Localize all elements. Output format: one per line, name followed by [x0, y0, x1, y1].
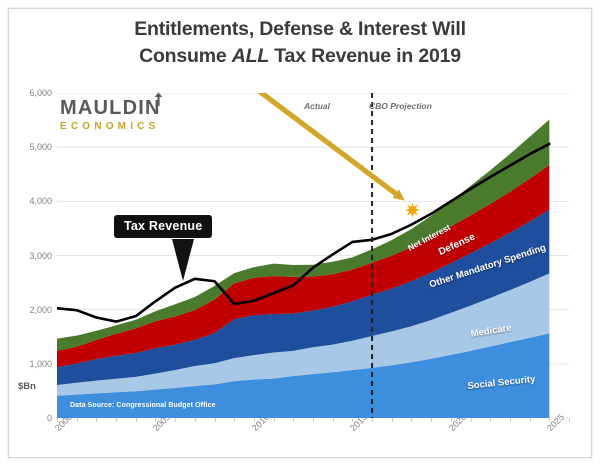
x-axis-tick-mark: [471, 418, 472, 422]
x-axis-tick-mark: [57, 418, 58, 422]
y-axis-unit-label: $Bn: [18, 381, 36, 392]
plot-area: [57, 93, 569, 418]
x-axis-tick-mark: [77, 418, 78, 422]
x-axis-tick-mark: [274, 418, 275, 422]
y-axis-tick-label: 1,000: [4, 359, 52, 369]
x-axis-tick-mark: [313, 418, 314, 422]
cbo-projection-label: CBO Projection: [369, 101, 432, 111]
chart-page: Entitlements, Defense & Interest Will Co…: [0, 0, 600, 466]
tax-revenue-callout: Tax Revenue: [114, 215, 212, 238]
x-axis: 200020052010201520202025: [0, 418, 600, 466]
x-axis-tick-mark: [215, 418, 216, 422]
data-source-note: Data Source: Congressional Budget Office: [70, 402, 216, 409]
area-chart-svg: [57, 93, 569, 418]
x-axis-tick-mark: [293, 418, 294, 422]
title-line-1: Entitlements, Defense & Interest Will: [60, 16, 540, 43]
x-axis-tick-mark: [510, 418, 511, 422]
actual-period-label: Actual: [304, 101, 330, 111]
x-axis-tick-mark: [411, 418, 412, 422]
x-axis-tick-mark: [549, 418, 550, 422]
x-axis-tick-mark: [372, 418, 373, 422]
title-line-2: Consume ALL Tax Revenue in 2019: [60, 43, 540, 70]
starburst-marker-icon: [405, 203, 420, 218]
x-axis-tick-mark: [254, 418, 255, 422]
page-title: Entitlements, Defense & Interest Will Co…: [60, 16, 540, 70]
title-emphasis: ALL: [232, 45, 269, 67]
tax-revenue-callout-pointer: [172, 239, 194, 281]
x-axis-tick-mark: [352, 418, 353, 422]
x-axis-tick-mark: [431, 418, 432, 422]
x-axis-tick-mark: [116, 418, 117, 422]
x-axis-tick-mark: [569, 418, 570, 422]
x-axis-tick-mark: [333, 418, 334, 422]
x-axis-tick-mark: [136, 418, 137, 422]
x-axis-tick-mark: [451, 418, 452, 422]
title-line-2-b: Tax Revenue in 2019: [269, 45, 461, 67]
y-axis-tick-label: 2,000: [4, 305, 52, 315]
x-axis-tick-mark: [530, 418, 531, 422]
title-line-2-a: Consume: [139, 45, 232, 67]
y-axis-tick-label: 6,000: [4, 88, 52, 98]
y-axis-tick-label: 4,000: [4, 196, 52, 206]
y-axis: 01,0002,0003,0004,0005,0006,000: [0, 0, 52, 466]
x-axis-tick-mark: [155, 418, 156, 422]
x-axis-tick-mark: [175, 418, 176, 422]
y-axis-tick-label: 3,000: [4, 251, 52, 261]
x-axis-tick-mark: [490, 418, 491, 422]
y-axis-tick-label: 5,000: [4, 142, 52, 152]
x-axis-tick-mark: [392, 418, 393, 422]
x-axis-tick-mark: [234, 418, 235, 422]
x-axis-tick-mark: [96, 418, 97, 422]
x-axis-tick-mark: [195, 418, 196, 422]
